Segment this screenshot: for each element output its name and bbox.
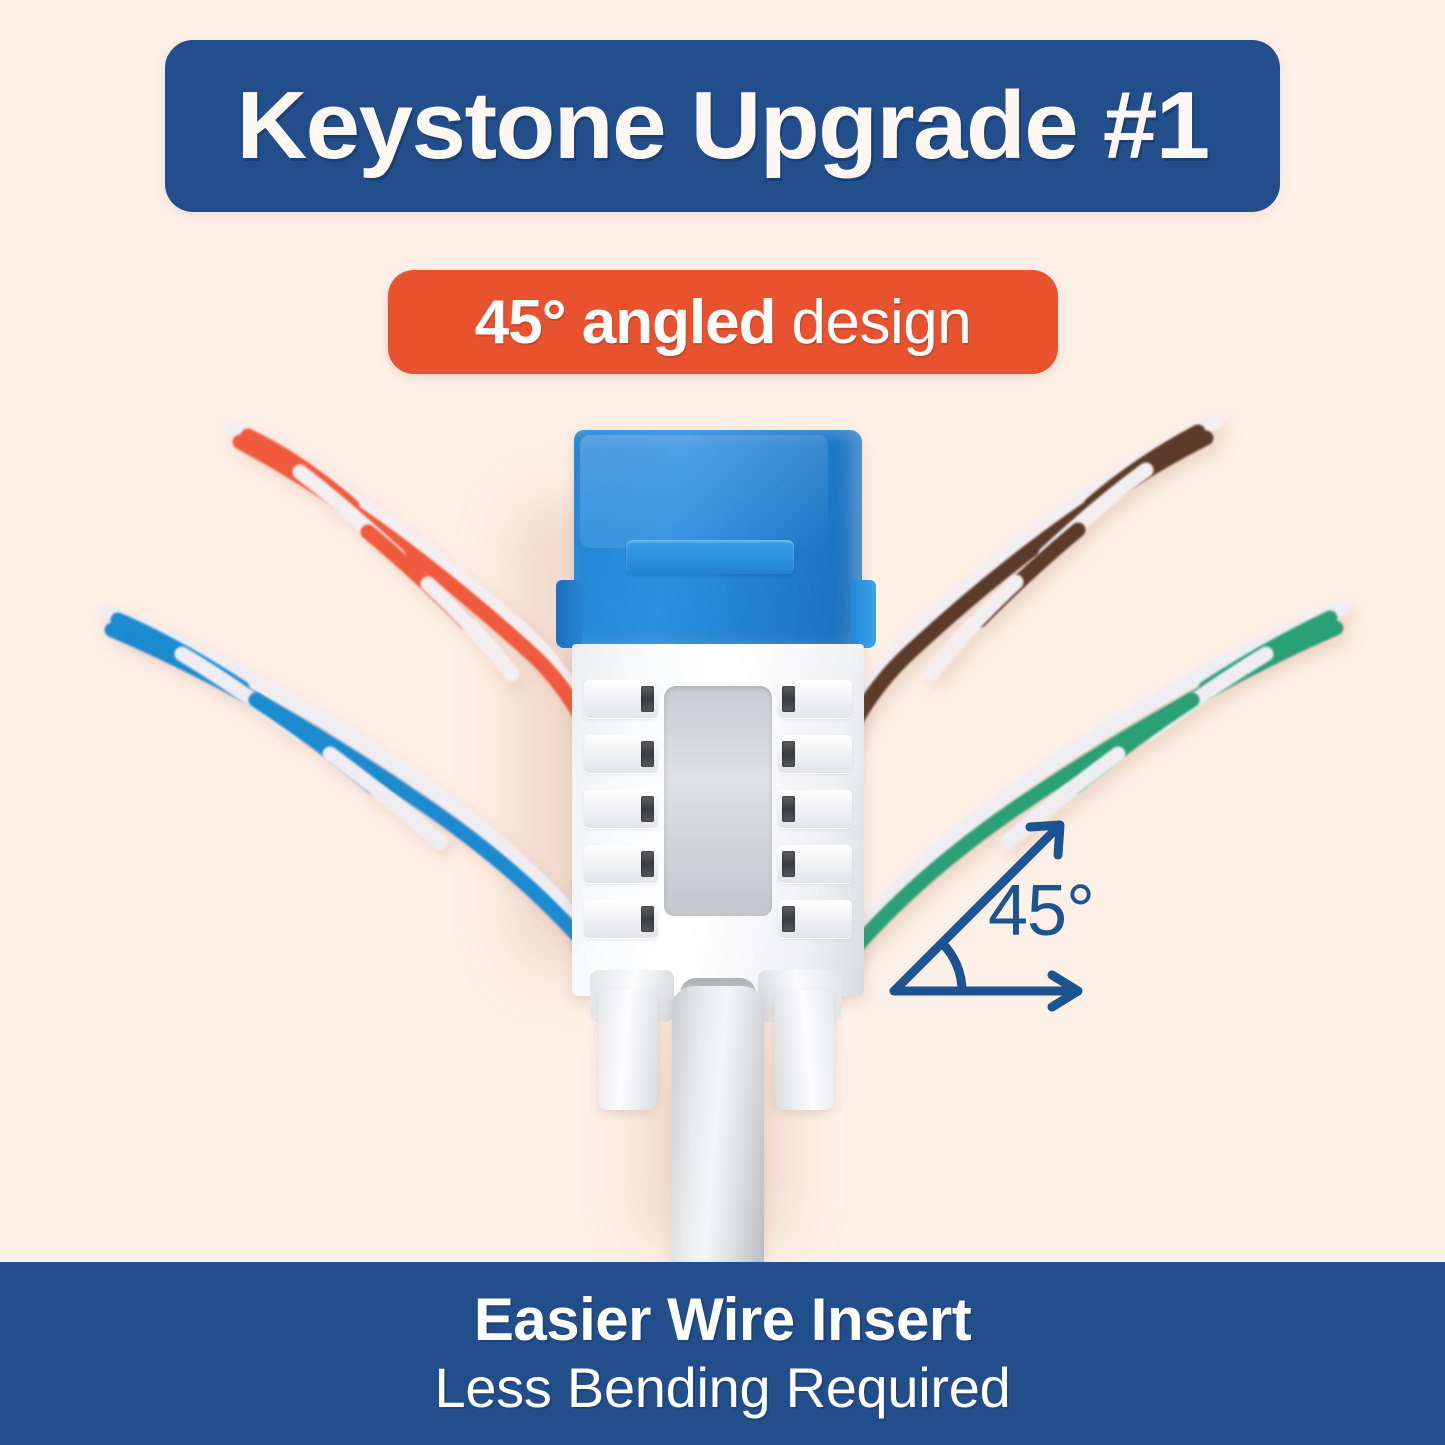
idc-blade	[641, 851, 654, 877]
punchdown-slots-left	[584, 680, 658, 940]
jack-white-body	[572, 644, 864, 996]
punchdown-slot	[778, 790, 852, 828]
angle-label: 45°	[988, 875, 1094, 947]
cap-ear-right	[850, 580, 876, 648]
idc-blade	[641, 686, 654, 712]
strain-relief-wing-left	[598, 990, 658, 1110]
idc-blade	[782, 741, 795, 767]
subtitle-strong-text: 45° angled	[475, 287, 776, 358]
punchdown-slot	[584, 900, 658, 938]
page-title: Keystone Upgrade #1	[236, 78, 1208, 174]
idc-blade	[782, 906, 795, 932]
idc-blade	[782, 686, 795, 712]
footer-banner: Easier Wire Insert Less Bending Required	[0, 1262, 1445, 1445]
jack-blue-cap	[574, 430, 862, 648]
cap-latch-tab	[626, 540, 794, 574]
subtitle-badge: 45° angled design	[388, 270, 1058, 374]
punchdown-slot	[584, 790, 658, 828]
punchdown-slot	[584, 735, 658, 773]
punchdown-slot	[584, 680, 658, 718]
idc-blade	[782, 851, 795, 877]
cap-ear-left	[556, 580, 582, 648]
angle-diagram: 45°	[880, 795, 1110, 1020]
strain-relief-wing-right	[774, 990, 834, 1110]
angle-arc	[942, 943, 962, 991]
punchdown-slot	[778, 900, 852, 938]
cap-highlight	[580, 435, 828, 548]
subtitle-light-text: design	[792, 287, 972, 358]
punchdown-slot	[584, 845, 658, 883]
keystone-jack	[556, 430, 876, 1220]
punchdown-slots-right	[778, 680, 852, 940]
idc-blade	[782, 796, 795, 822]
punchdown-slot	[778, 845, 852, 883]
infographic-canvas: Keystone Upgrade #1 45° angled design	[0, 0, 1445, 1445]
punchdown-slot	[778, 735, 852, 773]
idc-blade	[641, 906, 654, 932]
idc-blade	[641, 741, 654, 767]
punchdown-slot	[778, 680, 852, 718]
idc-blade	[641, 796, 654, 822]
ethernet-cable-jacket	[672, 986, 764, 1276]
jack-center-channel	[664, 686, 772, 916]
footer-subheadline: Less Bending Required	[435, 1357, 1011, 1420]
product-photo: 45°	[0, 380, 1445, 1265]
footer-headline: Easier Wire Insert	[474, 1288, 971, 1353]
title-banner: Keystone Upgrade #1	[165, 40, 1280, 212]
